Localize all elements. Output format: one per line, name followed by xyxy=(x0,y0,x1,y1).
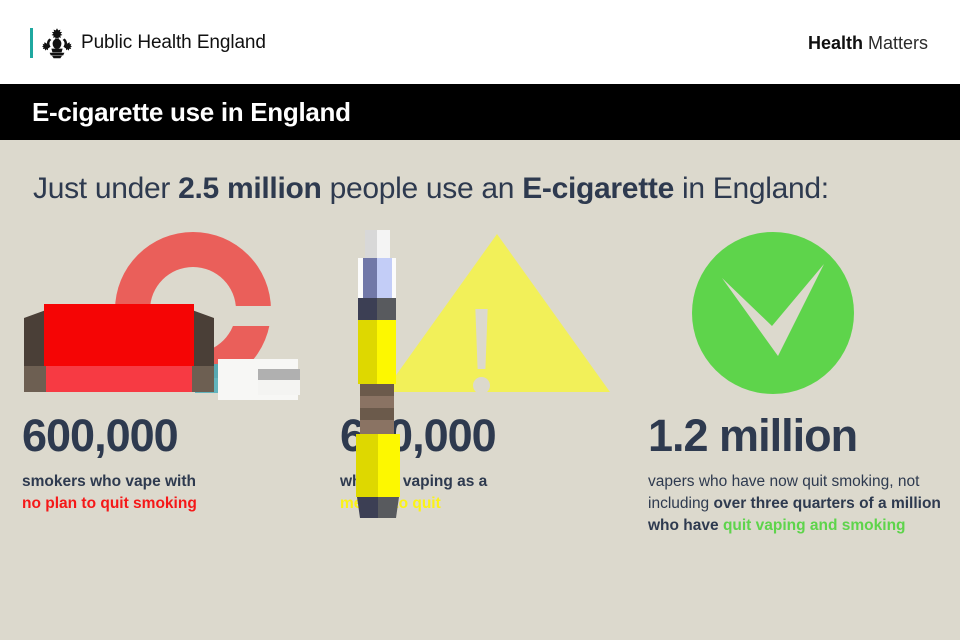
pen-base-right xyxy=(378,497,399,518)
stat-column-smokers-no-plan: 600,000 smokers who vape with no plan to… xyxy=(22,228,322,514)
page-header: Public Health England Health Matters xyxy=(0,0,960,84)
pack-foot-left xyxy=(24,366,46,392)
subtitle: Just under 2.5 million people use an E-c… xyxy=(33,172,829,206)
cigarette-pack-no-e-icon xyxy=(22,228,322,404)
subtitle-bold-term: E-cigarette xyxy=(522,172,674,205)
pen-grip-stripe-4 xyxy=(360,420,394,434)
page-title: E-cigarette use in England xyxy=(32,97,351,128)
health-matters-brand: Health Matters xyxy=(808,33,928,54)
stat-caption: vapers who have now quit smoking, not in… xyxy=(648,471,948,537)
cigarette-pack xyxy=(24,304,214,392)
pen-mouthpiece-left xyxy=(365,230,377,258)
royal-crest-icon xyxy=(42,27,72,59)
subtitle-bold-figure: 2.5 million xyxy=(178,172,321,205)
pack-foot-right xyxy=(192,366,214,392)
stat-column-vaping-to-quit: 600,000 who are vaping as a means to qui… xyxy=(340,228,640,514)
pen-grip-stripe-1 xyxy=(360,384,394,396)
pen-band-right xyxy=(377,298,396,320)
caption-line-2-highlight: no plan to quit smoking xyxy=(22,495,197,512)
subtitle-part-3: in England: xyxy=(674,172,829,205)
warning-triangle-shape xyxy=(384,234,610,392)
brand-regular-word: Matters xyxy=(863,33,928,53)
brand-bold-word: Health xyxy=(808,33,863,53)
subtitle-part-1: Just under xyxy=(33,172,178,205)
stat-caption: smokers who vape with no plan to quit sm… xyxy=(22,471,322,514)
stat-column-quit-smoking: 1.2 million vapers who have now quit smo… xyxy=(648,228,948,537)
pen-grip-stripe-2 xyxy=(360,396,394,408)
stat-number: 1.2 million xyxy=(648,413,948,458)
phe-logo-lockup: Public Health England xyxy=(30,26,266,60)
caption-highlight-text: quit vaping and smoking xyxy=(723,517,906,534)
pack-front-lower-band xyxy=(44,366,194,392)
pen-mouthpiece-right xyxy=(377,230,390,258)
pen-band-left xyxy=(358,298,377,320)
logo-text: Public Health England xyxy=(81,32,266,54)
pen-lower-body-left xyxy=(356,434,378,497)
exclamation-dot-shape xyxy=(473,377,490,394)
pen-lower-body-right xyxy=(378,434,400,497)
pen-base-left xyxy=(357,497,378,518)
subtitle-part-2: people use an xyxy=(322,172,523,205)
logo-accent-bar xyxy=(30,28,33,58)
title-bar: E-cigarette use in England xyxy=(0,84,960,140)
green-check-circle-icon xyxy=(648,228,948,404)
pen-upper-body-right xyxy=(377,320,396,384)
stat-number: 600,000 xyxy=(22,413,322,458)
cigarette-filter-top xyxy=(258,369,300,380)
pen-tank-left xyxy=(363,258,377,298)
caption-line-1: smokers who vape with xyxy=(22,473,196,490)
pen-grip-stripe-3 xyxy=(360,408,394,420)
check-mark-shape xyxy=(720,264,830,368)
pen-tank-right xyxy=(377,258,392,298)
vape-pen xyxy=(348,228,404,518)
pen-upper-body-left xyxy=(358,320,377,384)
vape-pen-warning-icon xyxy=(340,228,640,404)
